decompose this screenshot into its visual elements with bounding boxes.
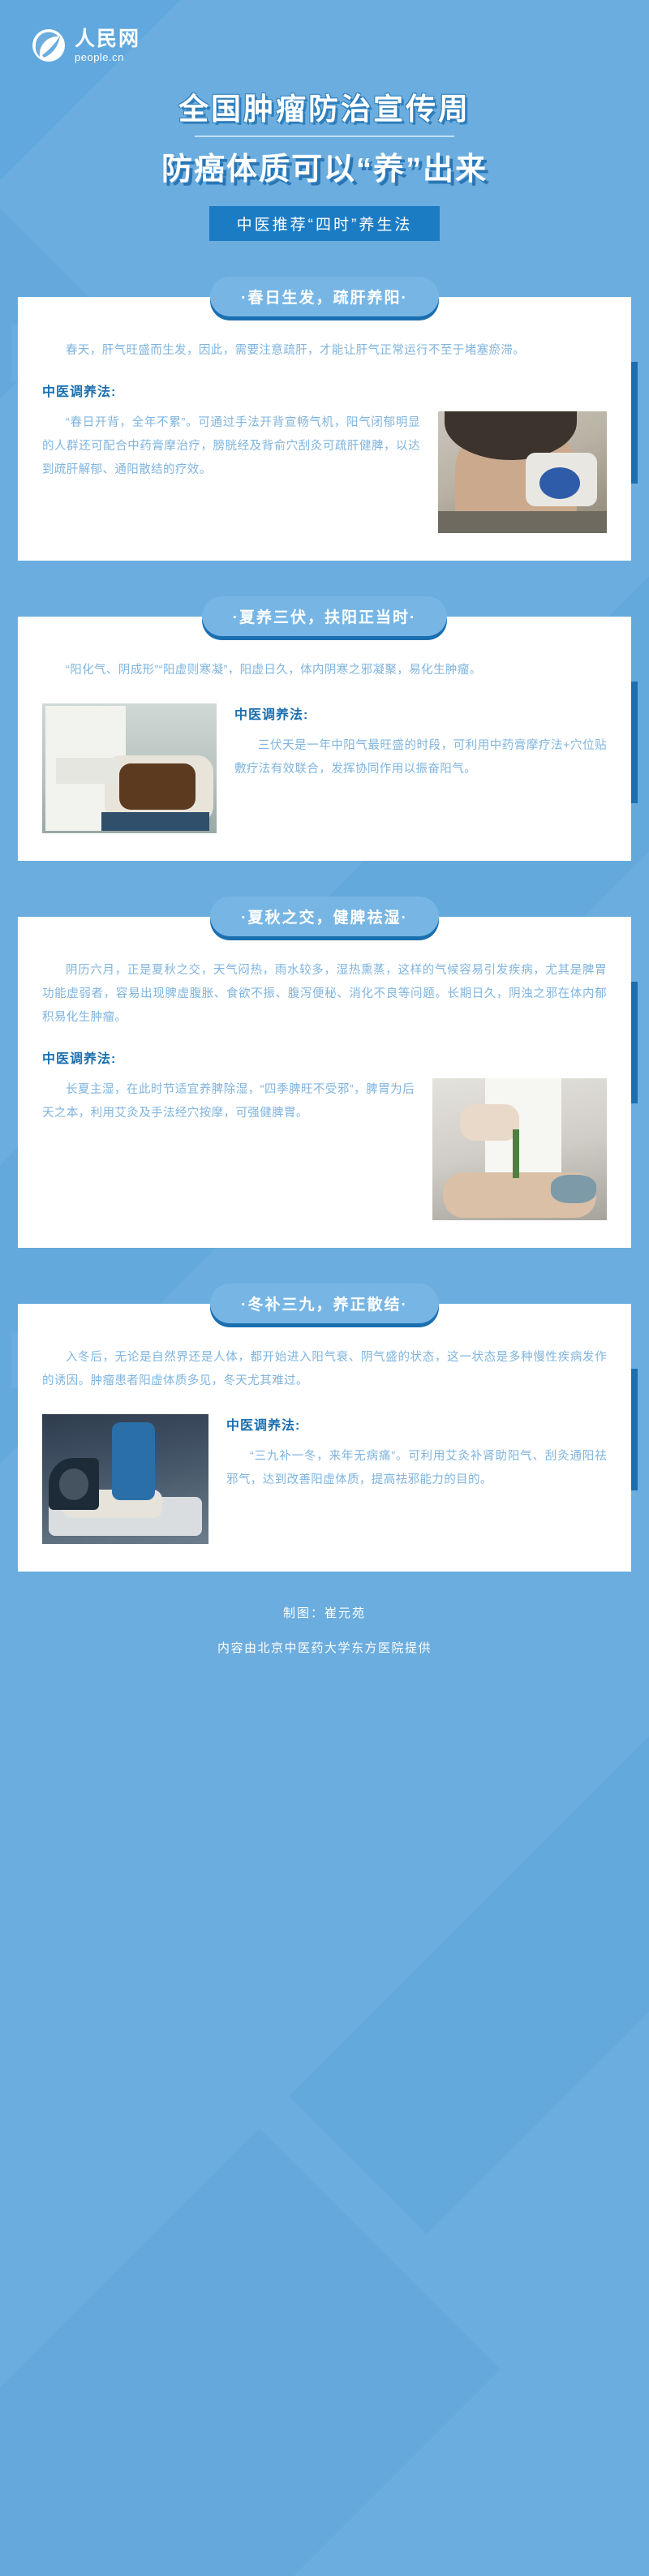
photo-winter-moxibustion [42, 1414, 208, 1544]
sub-heading-spring: 中医调养法: [42, 381, 607, 400]
section-card-late-summer: 阴历六月，正是夏秋之交，天气闷热，雨水较多，湿热熏蒸，这样的气候容易引发疾病，尤… [18, 917, 631, 1248]
section-title-late-summer: ·夏秋之交，健脾祛湿· [210, 897, 439, 936]
photo-herbal-paste-therapy [42, 703, 217, 833]
brand-logo: 人民网 people.cn [0, 28, 649, 63]
header: 人民网 people.cn 全国肿瘤防治宣传周 防癌体质可以“养”出来 中医推荐… [0, 0, 649, 241]
section-title-winter: ·冬补三九，养正散结· [210, 1284, 439, 1323]
section-card-summer: “阳化气、阴成形”“阳虚则寒凝”，阳虚日久，体内阴寒之邪凝聚，易化生肿瘤。 中医… [18, 617, 631, 861]
section-card-spring: 春天，肝气旺盛而生发，因此，需要注意疏肝，才能让肝气正常运行不至于堵塞瘀滞。 中… [18, 297, 631, 561]
card-accent-left [11, 1331, 18, 1388]
footer-source: 内容由北京中医药大学东方医院提供 [0, 1639, 649, 1656]
section-title-spring: ·春日生发，疏肝养阳· [210, 277, 439, 316]
card-accent-right [631, 362, 638, 484]
section-winter: ·冬补三九，养正散结· 入冬后，无论是自然界还是人体，都开始进入阳气衰、阴气盛的… [18, 1284, 631, 1572]
footer: 制图：崔元苑 内容由北京中医药大学东方医院提供 [0, 1572, 649, 1693]
page-title-main: 全国肿瘤防治宣传周 [178, 84, 471, 128]
people-cn-globe-icon [31, 28, 67, 63]
section-late-summer: ·夏秋之交，健脾祛湿· 阴历六月，正是夏秋之交，天气闷热，雨水较多，湿热熏蒸，这… [18, 897, 631, 1248]
footer-credit: 制图：崔元苑 [0, 1604, 649, 1621]
card-accent-left [11, 944, 18, 1001]
section-intro-spring: 春天，肝气旺盛而生发，因此，需要注意疏肝，才能让肝气正常运行不至于堵塞瘀滞。 [42, 339, 607, 363]
brand-name-en: people.cn [75, 52, 140, 62]
section-body-winter: “三九补一冬，来年无病痛”。可利用艾灸补肾助阳气、刮灸通阳祛邪气，达到改善阳虚体… [226, 1445, 607, 1492]
section-body-spring: “春日开背，全年不累”。可通过手法开背宣畅气机，阳气闭郁明显的人群还可配合中药膏… [42, 411, 420, 482]
section-summer: ·夏养三伏，扶阳正当时· “阳化气、阴成形”“阳虚则寒凝”，阳虚日久，体内阴寒之… [18, 596, 631, 861]
brand-name-cn: 人民网 [75, 29, 140, 49]
section-intro-winter: 入冬后，无论是自然界还是人体，都开始进入阳气衰、阴气盛的状态，这一状态是多种慢性… [42, 1346, 607, 1393]
section-intro-late-summer: 阴历六月，正是夏秋之交，天气闷热，雨水较多，湿热熏蒸，这样的气候容易引发疾病，尤… [42, 959, 607, 1030]
section-body-late-summer: 长夏主湿，在此时节适宜养脾除湿，“四季脾旺不受邪”，脾胃为后天之本，利用艾灸及手… [42, 1078, 415, 1125]
photo-back-cupping [438, 411, 607, 533]
page-title-sub: 防癌体质可以“养”出来 [161, 144, 488, 188]
card-accent-right [631, 1369, 638, 1490]
section-body-summer: 三伏天是一年中阳气最旺盛的时段，可利用中药膏摩疗法+穴位贴敷疗法有效联合，发挥协… [234, 734, 607, 781]
photo-acupuncture-leg [432, 1078, 607, 1220]
title-block: 全国肿瘤防治宣传周 防癌体质可以“养”出来 中医推荐“四时”养生法 [0, 84, 649, 241]
card-accent-right [631, 682, 638, 803]
sub-heading-late-summer: 中医调养法: [42, 1047, 607, 1067]
card-accent-right [631, 982, 638, 1103]
sub-heading-summer: 中医调养法: [234, 703, 607, 723]
infographic-page: 人民网 people.cn 全国肿瘤防治宣传周 防癌体质可以“养”出来 中医推荐… [0, 0, 649, 1701]
section-card-winter: 入冬后，无论是自然界还是人体，都开始进入阳气衰、阴气盛的状态，这一状态是多种慢性… [18, 1304, 631, 1572]
card-accent-left [11, 644, 18, 701]
subtitle-banner: 中医推荐“四时”养生法 [209, 206, 441, 241]
section-spring: ·春日生发，疏肝养阳· 春天，肝气旺盛而生发，因此，需要注意疏肝，才能让肝气正常… [18, 277, 631, 561]
section-title-summer: ·夏养三伏，扶阳正当时· [202, 596, 448, 636]
sub-heading-winter: 中医调养法: [226, 1414, 607, 1434]
card-accent-left [11, 325, 18, 381]
section-intro-summer: “阳化气、阴成形”“阳虚则寒凝”，阳虚日久，体内阴寒之邪凝聚，易化生肿瘤。 [42, 659, 607, 682]
title-divider [195, 135, 454, 137]
